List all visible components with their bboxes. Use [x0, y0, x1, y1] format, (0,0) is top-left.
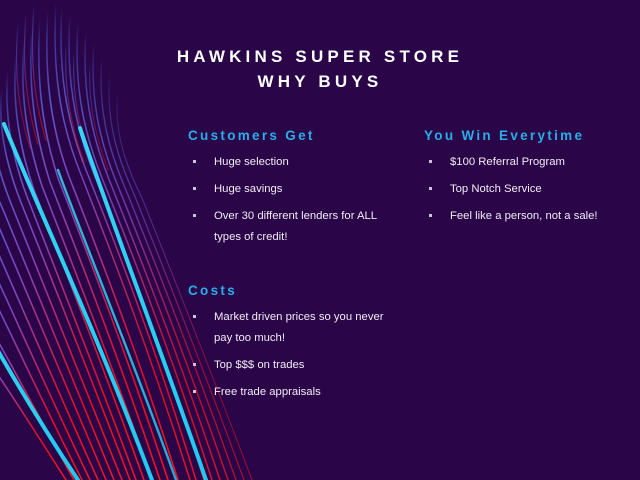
bullet-list-you-win-everytime: $100 Referral Program Top Notch Service …	[424, 152, 624, 227]
section-you-win-everytime: You Win Everytime $100 Referral Program …	[424, 128, 624, 233]
list-item: $100 Referral Program	[424, 152, 624, 173]
list-item: Huge selection	[188, 152, 403, 173]
list-item: Top Notch Service	[424, 179, 624, 200]
section-heading-customers-get: Customers Get	[188, 128, 403, 143]
list-item: Market driven prices so you never pay to…	[188, 307, 403, 349]
list-item: Huge savings	[188, 179, 403, 200]
list-item: Feel like a person, not a sale!	[424, 206, 624, 227]
list-item: Free trade appraisals	[188, 382, 403, 403]
list-item: Over 30 different lenders for ALL types …	[188, 206, 403, 248]
bullet-list-costs: Market driven prices so you never pay to…	[188, 307, 403, 403]
section-heading-costs: Costs	[188, 283, 403, 298]
page-title: HAWKINS SUPER STORE WHY BUYS	[0, 44, 640, 94]
section-heading-you-win-everytime: You Win Everytime	[424, 128, 624, 143]
section-costs: Costs Market driven prices so you never …	[188, 283, 403, 409]
list-item: Top $$$ on trades	[188, 355, 403, 376]
bullet-list-customers-get: Huge selection Huge savings Over 30 diff…	[188, 152, 403, 248]
section-customers-get: Customers Get Huge selection Huge saving…	[188, 128, 403, 254]
presentation-slide: HAWKINS SUPER STORE WHY BUYS Customers G…	[0, 0, 640, 480]
